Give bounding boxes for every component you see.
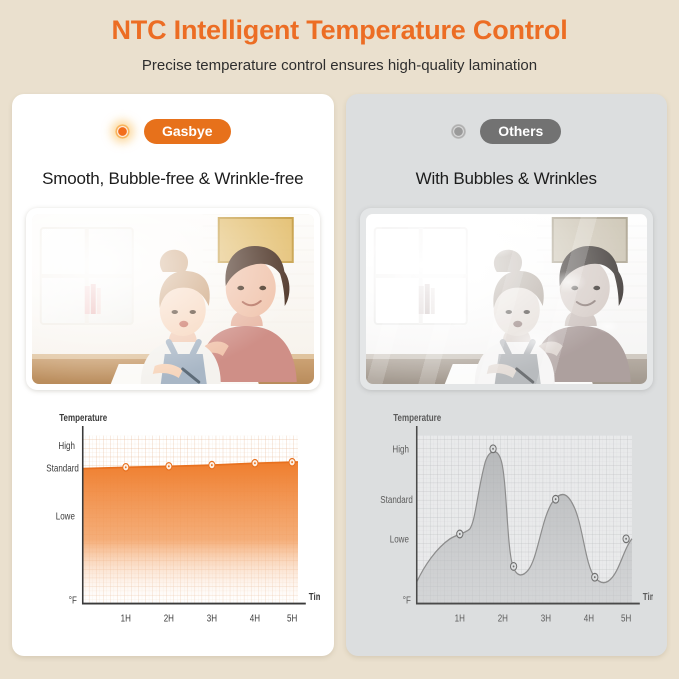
chart-others: Temperature High Standard Lowe °F 1H 2H … [360,414,654,642]
photo-frame-gasbye [26,208,320,390]
chart-others-ytick-standard: Standard [380,494,413,505]
chart-others-xtick-4: 4H [583,613,593,624]
card-heading-gasbye: Smooth, Bubble-free & Wrinkle-free [26,168,320,190]
others-badge-row: Others [360,116,654,146]
chart-gasbye-xtick-2: 2H [164,613,174,624]
card-heading-others: With Bubbles & Wrinkles [360,168,654,190]
chart-others-xtick-3: 3H [540,613,550,624]
chart-others-xtick-1: 1H [454,613,464,624]
status-dot-active-icon [115,124,130,139]
chart-gasbye-ytick-standard: Standard [46,463,79,474]
chart-gasbye-ytick-high: High [58,440,74,451]
chart-gasbye-xtick-3: 3H [207,613,217,624]
gasbye-badge-row: Gasbye [26,116,320,146]
comparison-cards: Gasbye Smooth, Bubble-free & Wrinkle-fre… [0,76,679,656]
chart-others-xlabel: Time [642,591,653,602]
chart-others-ylabel: Temperature [393,414,441,423]
chart-others-svg: Temperature High Standard Lowe °F 1H 2H … [360,414,654,642]
page-header: NTC Intelligent Temperature Control Prec… [0,0,679,76]
card-gasbye: Gasbye Smooth, Bubble-free & Wrinkle-fre… [12,94,334,656]
status-dot-inactive-icon [451,124,466,139]
photo-gasbye-illustration [32,214,314,384]
photo-frame-others [360,208,654,390]
photo-gasbye [32,214,314,384]
chart-gasbye-xtick-4: 4H [250,613,260,624]
chart-gasbye-ylabel: Temperature [59,414,107,423]
brand-badge-others: Others [480,119,561,144]
chart-gasbye-svg: Temperature High Standard Lowe °F 1H 2H … [26,414,320,642]
chart-others-ytick-high: High [392,444,408,455]
page-title: NTC Intelligent Temperature Control [0,13,679,47]
chart-gasbye-xtick-1: 1H [121,613,131,624]
photo-others [366,214,648,384]
brand-badge-gasbye: Gasbye [144,119,231,144]
photo-others-illustration [366,214,648,384]
card-others: Others With Bubbles & Wrinkles [346,94,668,656]
chart-others-xtick-5: 5H [620,613,630,624]
chart-gasbye-unit: °F [69,595,78,606]
chart-gasbye-xtick-5: 5H [287,613,297,624]
page-subtitle: Precise temperature control ensures high… [0,56,679,76]
chart-others-xtick-2: 2H [497,613,507,624]
chart-others-ytick-lowe: Lowe [389,534,408,545]
chart-gasbye: Temperature High Standard Lowe °F 1H 2H … [26,414,320,642]
chart-gasbye-ytick-lowe: Lowe [56,511,75,522]
chart-gasbye-xlabel: Time [309,591,320,602]
chart-others-unit: °F [402,595,411,606]
